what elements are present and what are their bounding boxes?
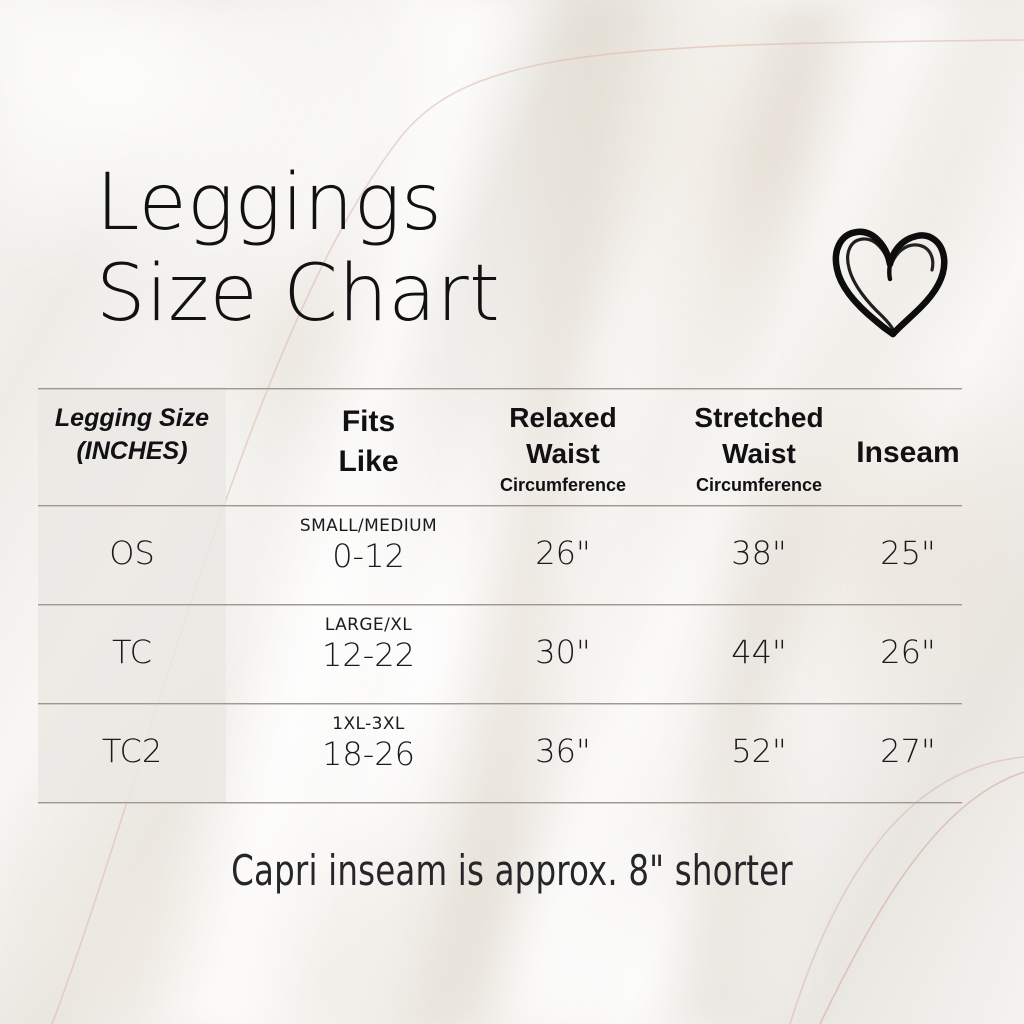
table-row: 26"	[818, 633, 998, 671]
stretched-waist-line2: Waist	[722, 438, 796, 469]
column-header-inseam: Inseam	[818, 436, 998, 470]
table-row: OS	[38, 534, 226, 572]
table-row: 25"	[818, 534, 998, 572]
relaxed-waist-line2: Waist	[526, 438, 600, 469]
table-row: TC	[38, 633, 226, 671]
fits-band-label: 1XL-3XL	[266, 714, 471, 734]
hand-drawn-heart-icon	[828, 218, 952, 338]
table-row: 27"	[818, 732, 998, 770]
stretched-waist-line1: Stretched	[694, 402, 823, 433]
table-row: TC2	[38, 732, 226, 770]
fits-band-label: LARGE/XL	[266, 615, 471, 635]
page-title: Leggings Size Chart	[96, 158, 500, 341]
size-chart-table: Legging Size (INCHES) Fits Like Relaxed …	[38, 388, 962, 803]
fits-band-label: SMALL/MEDIUM	[266, 516, 471, 536]
stretched-waist-subtitle: Circumference	[634, 474, 884, 497]
capri-inseam-note: Capri inseam is approx. 8" shorter	[72, 846, 953, 895]
size-chart-poster: Leggings Size Chart Legging Size (INCHES…	[0, 0, 1024, 1024]
relaxed-waist-line1: Relaxed	[509, 402, 616, 433]
column-header-legging-size: Legging Size (INCHES)	[38, 402, 226, 468]
